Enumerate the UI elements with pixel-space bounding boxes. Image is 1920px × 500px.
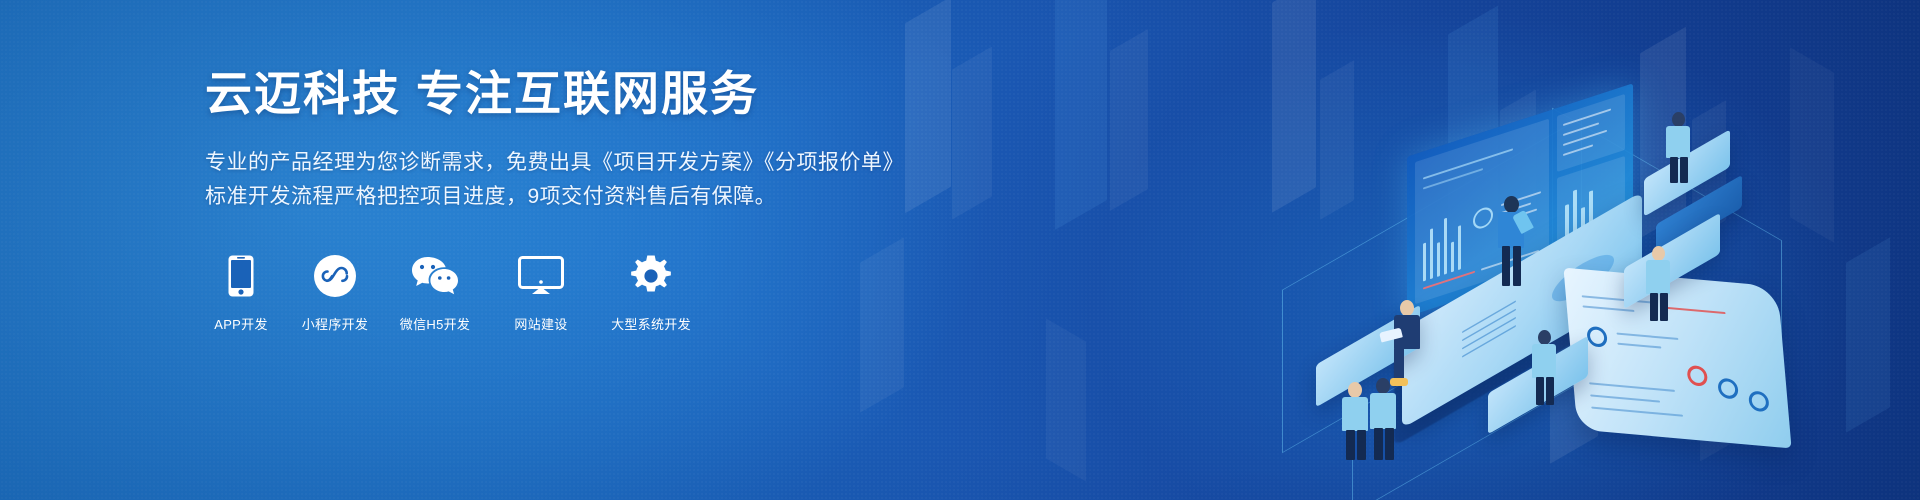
service-item-large-system[interactable]: 大型系统开发 [605, 254, 697, 333]
service-label-wechat-h5: 微信H5开发 [393, 314, 477, 333]
banner-content: 云迈科技 专注互联网服务 专业的产品经理为您诊断需求，免费出具《项目开发方案》《… [205, 66, 965, 333]
service-list: APP开发 小程序开发 [205, 254, 965, 333]
service-item-mini-program[interactable]: 小程序开发 [299, 254, 371, 333]
service-label-website: 网站建设 [499, 314, 583, 333]
mobile-phone-icon [205, 254, 277, 298]
subtitle-line-2: 标准开发流程严格把控项目进度，9项交付资料售后有保障。 [205, 180, 965, 214]
report-sheet [1563, 268, 1791, 449]
service-item-wechat-h5[interactable]: 微信H5开发 [393, 254, 477, 333]
service-label-app: APP开发 [205, 314, 277, 333]
monitor-icon [499, 254, 583, 298]
service-label-large-system: 大型系统开发 [605, 314, 697, 333]
hero-banner: 云迈科技 专注互联网服务 专业的产品经理为您诊断需求，免费出具《项目开发方案》《… [0, 0, 1920, 500]
mini-program-icon [299, 254, 371, 298]
subtitle-line-1: 专业的产品经理为您诊断需求，免费出具《项目开发方案》《分项报价单》 [205, 146, 965, 180]
service-label-mini-program: 小程序开发 [299, 314, 371, 333]
wechat-icon [393, 254, 477, 298]
hero-illustration [1252, 0, 1812, 500]
page-title: 云迈科技 专注互联网服务 [205, 66, 965, 122]
service-item-website[interactable]: 网站建设 [499, 254, 583, 333]
gear-icon [605, 254, 697, 298]
service-item-app[interactable]: APP开发 [205, 254, 277, 333]
